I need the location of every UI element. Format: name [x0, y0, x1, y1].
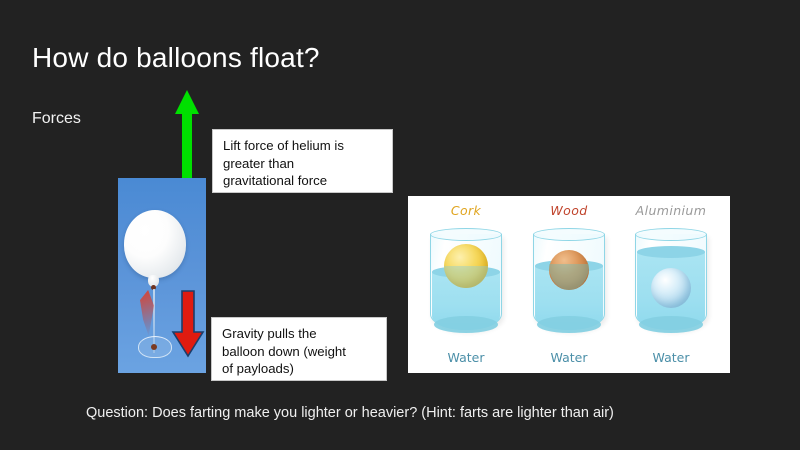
gravity-arrow-icon	[170, 290, 206, 358]
slide-canvas: How do balloons float? Forces Lift force…	[0, 0, 800, 450]
callout-gravity-line-2: balloon down (weight	[222, 343, 377, 361]
beaker-cork	[430, 228, 502, 336]
callout-lift-force: Lift force of helium is greater than gra…	[212, 129, 393, 193]
balloon-envelope	[124, 210, 186, 278]
glass-rim	[635, 228, 707, 241]
question-prompt: Question: Does farting make you lighter …	[86, 405, 614, 421]
callout-gravity-line-3: of payloads)	[222, 360, 377, 378]
water-label-aluminium: Water	[621, 350, 721, 365]
water-label-wood: Water	[519, 350, 619, 365]
beaker-wood	[533, 228, 605, 336]
callout-gravity-line-1: Gravity pulls the	[222, 325, 377, 343]
cork-sphere	[444, 244, 488, 288]
glass-rim	[430, 228, 502, 241]
beaker-column-wood: Wood Water	[519, 196, 619, 373]
beaker-base	[434, 316, 498, 333]
beaker-base	[537, 316, 601, 333]
section-subtitle: Forces	[32, 110, 81, 128]
water-surface	[637, 246, 706, 258]
aluminium-sphere	[651, 268, 691, 308]
page-title: How do balloons float?	[32, 42, 320, 74]
beaker-label-cork: Cork	[416, 203, 516, 218]
beaker-column-cork: Cork Water	[416, 196, 516, 373]
callout-lift-line-1: Lift force of helium is	[223, 137, 383, 155]
lift-arrow-icon	[172, 88, 202, 188]
water-label-cork: Water	[416, 350, 516, 365]
beaker-column-aluminium: Aluminium Water	[621, 196, 721, 373]
callout-lift-line-2: greater than	[223, 155, 383, 173]
beaker-aluminium	[635, 228, 707, 336]
callout-lift-line-3: gravitational force	[223, 172, 383, 190]
buoyancy-comparison-figure: Cork Water Wood	[408, 196, 730, 373]
wood-sphere	[549, 250, 589, 290]
beaker-label-wood: Wood	[519, 203, 619, 218]
payload-box	[151, 344, 157, 350]
callout-gravity-force: Gravity pulls the balloon down (weight o…	[211, 317, 387, 381]
beaker-base	[639, 316, 703, 333]
glass-rim	[533, 228, 605, 241]
payload-streamer	[140, 290, 154, 336]
beaker-label-aluminium: Aluminium	[621, 203, 721, 218]
